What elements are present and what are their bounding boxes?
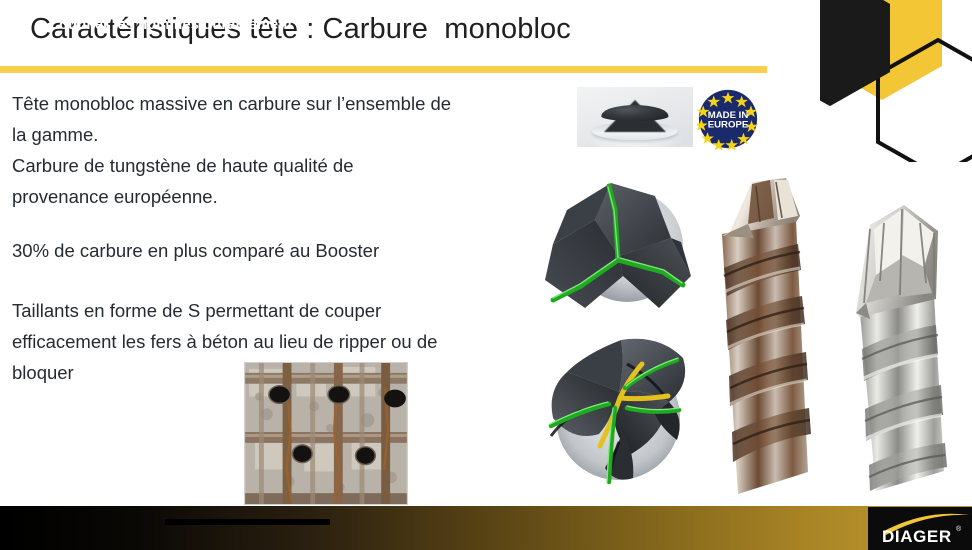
slide-footer — [0, 506, 972, 550]
body-text-carbide-claim: 30% de carbure en plus comparé au Booste… — [12, 235, 482, 266]
made-in-europe-badge: MADE IN EUROPE — [697, 88, 759, 150]
diager-logo-text: DIAGER — [882, 527, 952, 547]
rebar-concrete-photo — [244, 362, 408, 505]
body-line: la gamme. — [12, 119, 557, 150]
drill-bit-photo-rusty — [700, 172, 822, 497]
carbide-powder-photo — [577, 87, 693, 147]
footer-divider-bar — [165, 519, 330, 525]
title-underline-rule — [0, 66, 767, 73]
body-line: provenance européenne. — [12, 181, 557, 212]
footer-tagline: "outiller les hommes durablement" — [52, 17, 300, 33]
hexagon-decoration-icon — [820, 0, 972, 162]
drill-head-render-green — [523, 168, 713, 320]
presentation-slide: Caractéristiques tête : Carbure monobloc… — [0, 0, 972, 550]
drill-bit-photo-silver — [840, 183, 962, 498]
body-line: Carbure de tungstène de haute qualité de — [12, 150, 557, 181]
diager-logo[interactable]: DIAGER ® — [868, 507, 972, 550]
body-text-intro: Tête monobloc massive en carbure sur l’e… — [12, 88, 557, 212]
body-line: Tête monobloc massive en carbure sur l’e… — [12, 88, 557, 119]
powder-cone-texture — [601, 105, 668, 121]
body-line: efficacement les fers à béton au lieu de… — [12, 326, 537, 357]
badge-line-2: EUROPE — [708, 120, 749, 131]
body-line: 30% de carbure en plus comparé au Booste… — [12, 235, 482, 266]
body-line: Taillants en forme de S permettant de co… — [12, 295, 537, 326]
diager-logo-registered-mark: ® — [956, 526, 961, 533]
drill-head-render-s-edges — [523, 322, 715, 492]
